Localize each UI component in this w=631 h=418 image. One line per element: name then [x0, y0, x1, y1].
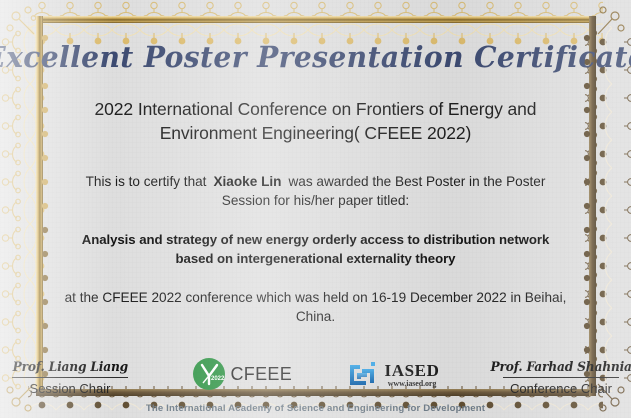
certify-prefix: This is to certify that	[86, 174, 207, 189]
certificate-title: Excellent Poster Presentation Certificat…	[0, 42, 631, 72]
organization-tagline: The International Academy of Science and…	[0, 403, 631, 414]
border-right-ornament	[585, 26, 631, 392]
paper-title: Analysis and strategy of new energy orde…	[81, 230, 551, 268]
corner-flourish-top-left	[7, 7, 34, 34]
certificate: Excellent Poster Presentation Certificat…	[0, 0, 631, 418]
awardee-name: Xiaoke Lin	[206, 174, 288, 189]
conference-name: 2022 International Conference on Frontie…	[56, 98, 576, 145]
corner-flourish-top-right	[598, 7, 624, 34]
border-left-ornament	[0, 26, 46, 392]
venue-statement: at the CFEEE 2022 conference which was h…	[56, 288, 576, 327]
certify-statement: This is to certify thatXiaoke Linwas awa…	[63, 172, 568, 211]
certificate-content: Excellent Poster Presentation Certificat…	[52, 30, 579, 388]
